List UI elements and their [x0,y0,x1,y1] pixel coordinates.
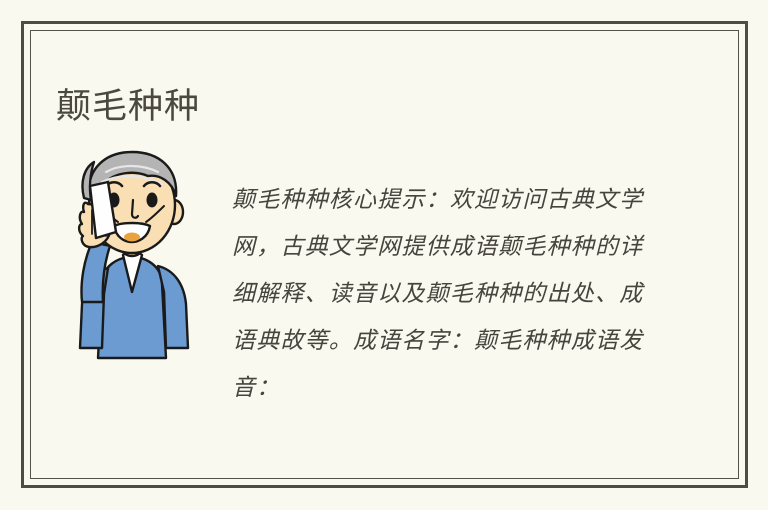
page-title: 颠毛种种 [56,84,200,130]
article-body: 颠毛种种核心提示：欢迎访问古典文学网，古典文学网提供成语颠毛种种的详细解释、读音… [232,177,652,412]
article-page: 颠毛种种 [0,0,768,510]
article-content: 颠毛种种核心提示：欢迎访问古典文学网，古典文学网提供成语颠毛种种的详细解释、读音… [56,140,712,370]
illustration-elderly-man-on-phone [62,142,202,360]
